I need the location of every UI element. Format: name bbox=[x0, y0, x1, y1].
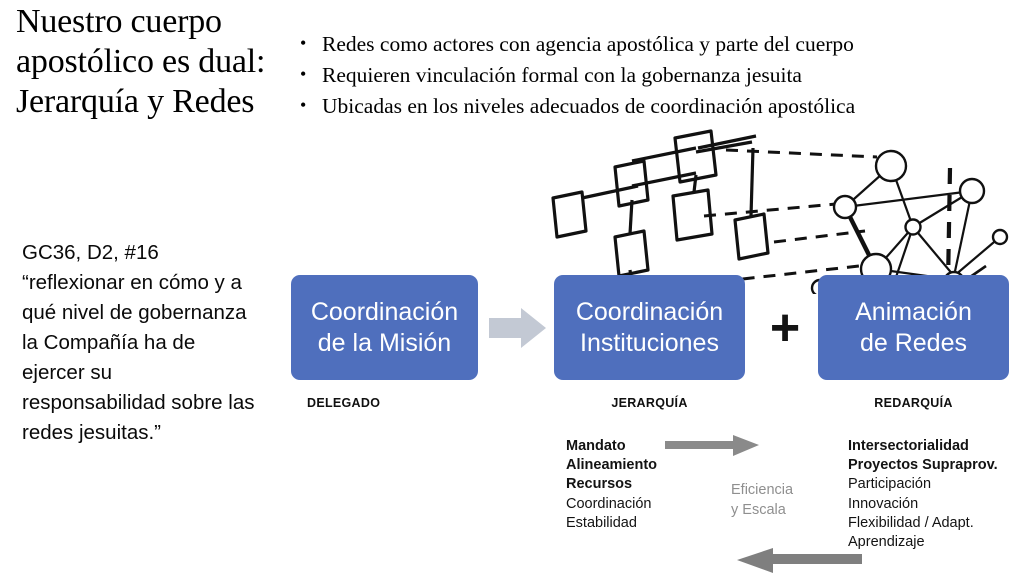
list-item: Requieren vinculación formal con la gobe… bbox=[296, 60, 1012, 91]
box-label-line1: Animación bbox=[855, 298, 972, 326]
box-label-line2: de la Misión bbox=[318, 329, 451, 357]
quote-citation: GC36, D2, #16 bbox=[22, 238, 257, 268]
caption-jerarquia: JERARQUÍA bbox=[554, 396, 745, 410]
attributes-right-column: Intersectorialidad Proyectos Supraprov. … bbox=[848, 437, 998, 552]
page-title: Nuestro cuerpo apostólico es dual: Jerar… bbox=[16, 2, 278, 122]
eficiencia-escala-label: Eficiencia y Escala bbox=[731, 481, 793, 520]
plus-icon: + bbox=[763, 302, 807, 354]
box-label-line1: Coordinación bbox=[576, 298, 723, 326]
arrow-right-icon bbox=[665, 435, 760, 457]
eficiencia-escala-line1: Eficiencia bbox=[731, 481, 793, 501]
dual-structure-illustration bbox=[520, 124, 1024, 294]
eficiencia-escala-line2: y Escala bbox=[731, 501, 793, 521]
arrow-left-icon bbox=[737, 548, 862, 574]
bullet-list: Redes como actores con agencia apostólic… bbox=[296, 29, 1012, 122]
attribute-item: Mandato bbox=[566, 437, 657, 456]
caption-redarquia: REDARQUÍA bbox=[818, 396, 1009, 410]
caption-delegado: DELEGADO bbox=[291, 396, 478, 410]
list-item: Ubicadas en los niveles adecuados de coo… bbox=[296, 91, 1012, 122]
attribute-item: Alineamiento bbox=[566, 456, 657, 475]
isometric-org-chart bbox=[553, 131, 768, 284]
attribute-item: Participación bbox=[848, 475, 998, 494]
cutoff-logo-marks bbox=[52, 566, 142, 574]
attribute-item: Flexibilidad / Adapt. bbox=[848, 514, 998, 533]
attribute-item: Aprendizaje bbox=[848, 533, 998, 552]
box-label-line2: Instituciones bbox=[580, 329, 719, 357]
attribute-item: Recursos bbox=[566, 475, 657, 494]
slide-canvas: Nuestro cuerpo apostólico es dual: Jerar… bbox=[0, 0, 1024, 574]
gray-block-arrow-icon bbox=[489, 306, 547, 350]
attribute-item: Proyectos Supraprov. bbox=[848, 456, 998, 475]
attribute-item: Estabilidad bbox=[566, 514, 657, 533]
box-coordinacion-mision[interactable]: Coordinación de la Misión bbox=[291, 275, 478, 380]
box-label: Coordinación de la Misión bbox=[311, 297, 458, 359]
quote-block: GC36, D2, #16 “reflexionar en cómo y a q… bbox=[22, 238, 257, 448]
attribute-item: Intersectorialidad bbox=[848, 437, 998, 456]
box-label: Coordinación Instituciones bbox=[576, 297, 723, 359]
box-animacion-redes[interactable]: Animación de Redes bbox=[818, 275, 1009, 380]
box-coordinacion-instituciones[interactable]: Coordinación Instituciones bbox=[554, 275, 745, 380]
box-label-line2: de Redes bbox=[860, 329, 967, 357]
list-item: Redes como actores con agencia apostólic… bbox=[296, 29, 1012, 60]
attribute-item: Innovación bbox=[848, 495, 998, 514]
quote-text: “reflexionar en cómo y a qué nivel de go… bbox=[22, 268, 257, 448]
attributes-left-column: Mandato Alineamiento Recursos Coordinaci… bbox=[566, 437, 657, 533]
attribute-item: Coordinación bbox=[566, 495, 657, 514]
network-graph bbox=[812, 151, 1007, 294]
box-label: Animación de Redes bbox=[855, 297, 972, 359]
box-label-line1: Coordinación bbox=[311, 298, 458, 326]
